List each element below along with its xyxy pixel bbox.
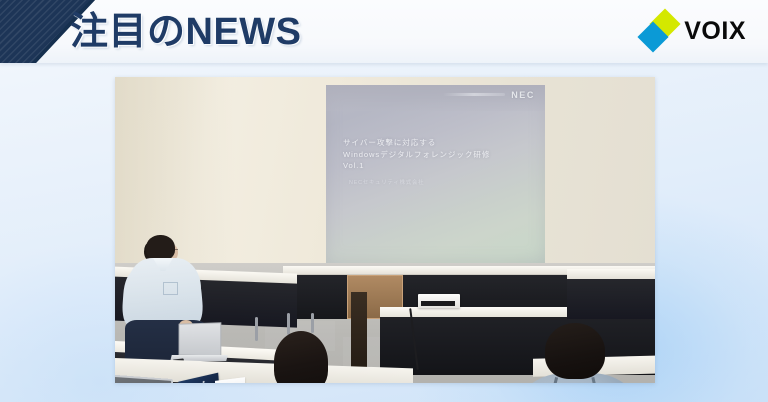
slide-title-line-3: Vol.1 xyxy=(343,160,490,172)
news-photo: NEC サイバー攻撃に対応する Windowsデジタルフォレンジック研修 Vol… xyxy=(115,77,655,383)
presenter-laptop-screen xyxy=(179,322,222,357)
voix-logo[interactable]: VOIX xyxy=(641,12,746,50)
news-banner-page: 注目のNEWS VOIX NEC サイバー攻撃に対応する Windowsデジタル… xyxy=(0,0,768,402)
voix-logo-mark xyxy=(641,12,677,50)
wall-shading xyxy=(115,77,235,263)
presenter-shirt-pocket xyxy=(163,282,178,295)
attendee-man-head xyxy=(545,323,605,379)
page-title: 注目のNEWS xyxy=(70,6,302,58)
nec-brand-logo: NEC xyxy=(511,90,535,100)
page-header: 注目のNEWS VOIX xyxy=(0,0,768,63)
slide-title-line-1: サイバー攻撃に対応する xyxy=(343,137,490,149)
slide-title-line-2: Windowsデジタルフォレンジック研修 xyxy=(343,149,490,161)
wood-dark-recess xyxy=(351,292,367,372)
screen-tagline-mark xyxy=(443,93,505,96)
chair-leg xyxy=(287,313,290,335)
right-desk-panel xyxy=(567,279,655,319)
slide-subtitle: NECセキュリティ株式会社 xyxy=(349,178,424,186)
chair-leg xyxy=(311,313,314,333)
projection-screen: NEC サイバー攻撃に対応する Windowsデジタルフォレンジック研修 Vol… xyxy=(326,85,545,263)
chair-leg xyxy=(255,317,258,341)
slide-title: サイバー攻撃に対応する Windowsデジタルフォレンジック研修 Vol.1 xyxy=(343,137,490,172)
right-desk-top xyxy=(567,269,655,279)
projector-vent xyxy=(421,301,455,306)
voix-logo-text: VOIX xyxy=(684,19,746,44)
